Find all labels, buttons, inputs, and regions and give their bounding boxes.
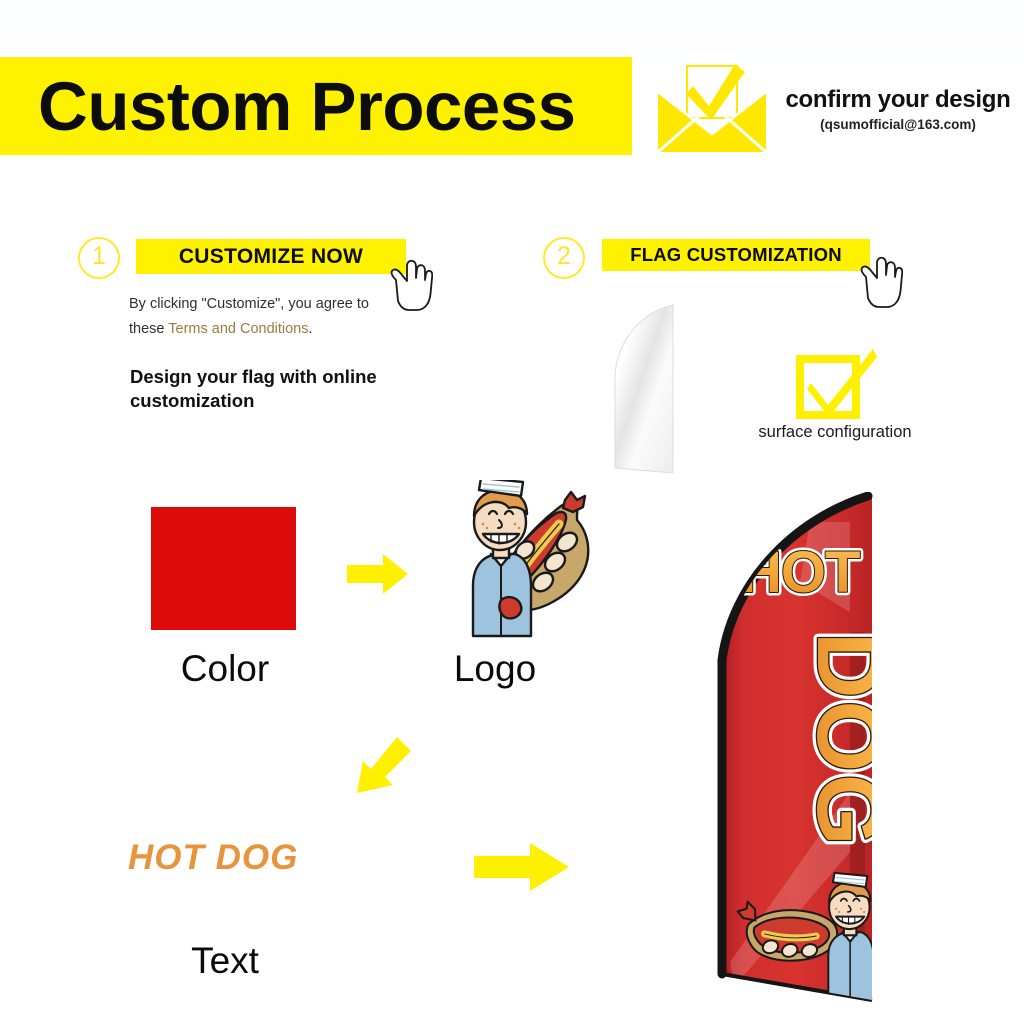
step-header-label-2: FLAG CUSTOMIZATION xyxy=(630,244,842,266)
page-title: Custom Process xyxy=(38,72,576,141)
color-label: Color xyxy=(120,648,330,690)
step-number-2: 2 xyxy=(543,237,585,279)
arrow-right-icon xyxy=(345,552,410,596)
logo-label: Logo xyxy=(395,648,595,690)
step-header-customize-now[interactable]: CUSTOMIZE NOW xyxy=(136,239,406,274)
confirm-email-label: (qsumofficial@163.com) xyxy=(778,117,1018,132)
step-number-1: 1 xyxy=(78,237,120,279)
arrow-down-left-icon xyxy=(337,735,413,801)
step-header-label-1: CUSTOMIZE NOW xyxy=(179,245,363,269)
envelope-check-icon xyxy=(655,64,769,154)
blank-feather-flag-icon xyxy=(609,303,679,475)
text-label: Text xyxy=(120,940,330,982)
step-header-flag-customization[interactable]: FLAG CUSTOMIZATION xyxy=(602,239,870,271)
arrow-right-icon xyxy=(472,840,572,894)
result-feather-flag: HOT HOT DOG DOG xyxy=(700,492,930,1007)
terms-agreement-text: By clicking "Customize", you agree to th… xyxy=(129,292,404,342)
confirm-design-label: confirm your design xyxy=(778,86,1018,114)
title-banner: Custom Process xyxy=(0,57,632,155)
agree-suffix: . xyxy=(309,321,313,337)
pointing-hand-icon xyxy=(857,255,903,309)
color-swatch[interactable] xyxy=(151,507,296,630)
surface-configuration-label: surface configuration xyxy=(700,423,970,442)
hotdog-text-sample: HOT DOG xyxy=(128,838,343,878)
checked-box-icon xyxy=(795,345,877,421)
svg-text:DOG: DOG xyxy=(798,632,900,848)
hotdog-vendor-cartoon-logo xyxy=(443,480,603,640)
page-root: Custom Process confirm your design (qsum… xyxy=(0,0,1024,1024)
confirm-design-block: confirm your design (qsumofficial@163.co… xyxy=(778,86,1018,132)
terms-and-conditions-link[interactable]: Terms and Conditions xyxy=(168,321,308,337)
design-description: Design your flag with online customizati… xyxy=(130,365,430,413)
